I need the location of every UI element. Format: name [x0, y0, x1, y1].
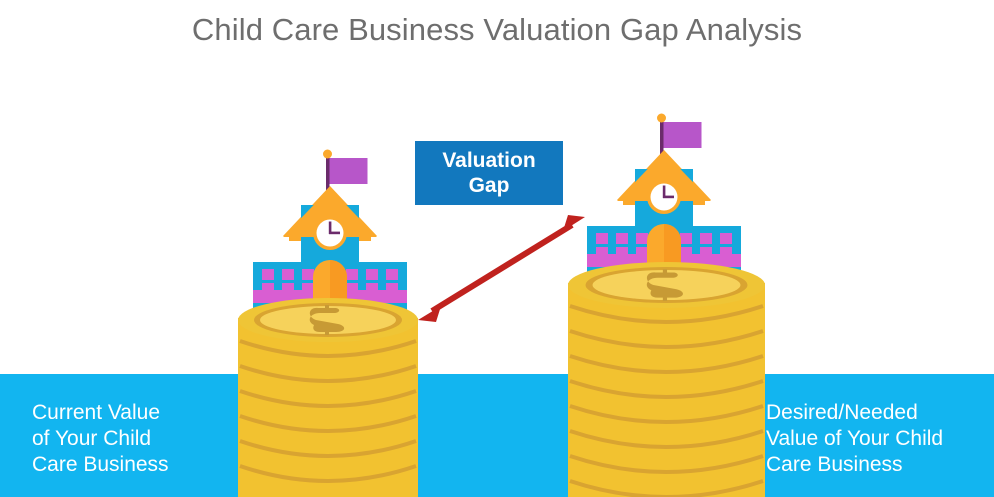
window-right-icon [720, 247, 732, 258]
clock-hand-hour-left-icon [329, 232, 340, 235]
window-left-icon [282, 283, 294, 294]
clock-hand-hour-right-icon [663, 196, 674, 199]
window-right-icon [616, 233, 628, 244]
window-right-icon [700, 233, 712, 244]
flag-finial-right-icon [657, 114, 666, 123]
valuation-gap-label: Valuation Gap [415, 141, 563, 205]
caption-desired-value: Desired/Needed Value of Your Child Care … [766, 400, 986, 478]
window-left-icon [302, 269, 314, 280]
window-left-icon [346, 269, 358, 280]
window-left-icon [366, 283, 378, 294]
infographic-canvas: Child Care Business Valuation Gap Analys… [0, 0, 994, 497]
window-left-icon [262, 283, 274, 294]
page-title: Child Care Business Valuation Gap Analys… [0, 12, 994, 48]
gap-arrow-head-left [418, 306, 441, 322]
valuation-gap-label-text: Valuation Gap [442, 148, 535, 198]
window-left-icon [386, 269, 398, 280]
schoolhouse-left-icon [253, 150, 407, 311]
window-right-icon [636, 247, 648, 258]
window-right-icon [700, 247, 712, 258]
schoolhouse-right-icon [587, 114, 741, 275]
window-left-icon [302, 283, 314, 294]
gap-arrow-head-right [563, 215, 585, 231]
flag-finial-left-icon [323, 150, 332, 159]
left-business-group [238, 150, 418, 497]
flag-left-icon [330, 158, 368, 184]
coin-stack-left [238, 298, 418, 497]
caption-current-value: Current Value of Your Child Care Busines… [32, 400, 242, 478]
window-left-icon [282, 269, 294, 280]
window-right-icon [596, 233, 608, 244]
window-right-icon [680, 247, 692, 258]
valuation-gap-arrow [418, 215, 585, 322]
window-right-icon [596, 247, 608, 258]
window-left-icon [386, 283, 398, 294]
right-business-group [568, 114, 765, 497]
window-left-icon [262, 269, 274, 280]
window-right-icon [636, 233, 648, 244]
window-right-icon [680, 233, 692, 244]
window-right-icon [720, 233, 732, 244]
gap-arrow-shaft [432, 225, 572, 311]
flag-right-icon [664, 122, 702, 148]
coin-stack-right [568, 262, 765, 497]
window-left-icon [366, 269, 378, 280]
window-left-icon [346, 283, 358, 294]
window-right-icon [616, 247, 628, 258]
